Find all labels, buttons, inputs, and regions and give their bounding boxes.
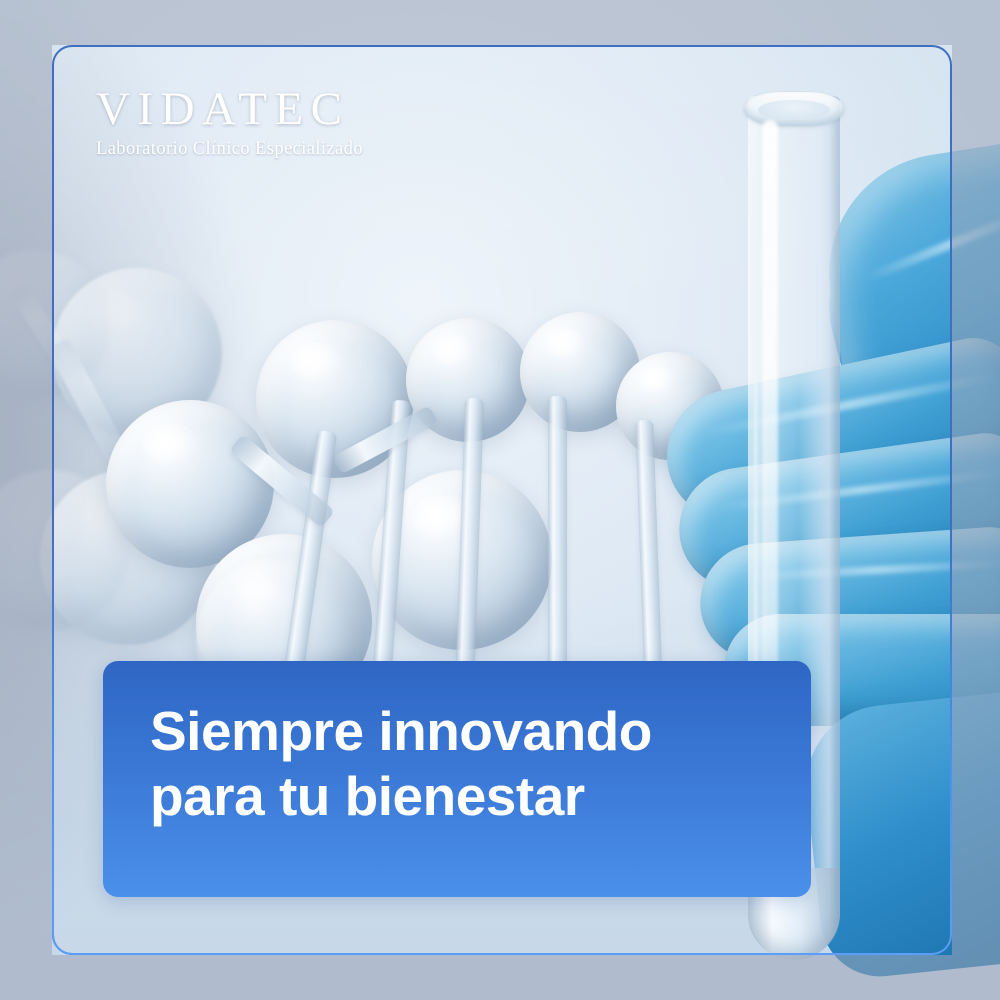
headline-banner: Siempre innovando para tu bienestar [103,661,811,897]
headline-line-1: Siempre innovando [150,699,790,764]
dna-rod [548,396,567,688]
poster-canvas: VIDATEC Laboratorio Clínico Especializad… [0,0,1000,1000]
brand-logo: VIDATEC Laboratorio Clínico Especializad… [96,86,363,160]
brand-tagline: Laboratorio Clínico Especializado [96,139,363,160]
headline-line-2: para tu bienestar [150,764,790,829]
brand-name: VIDATEC [96,86,363,133]
test-tube-opening [758,100,830,120]
headline-text: Siempre innovando para tu bienestar [150,699,790,830]
dna-rod [635,420,662,692]
